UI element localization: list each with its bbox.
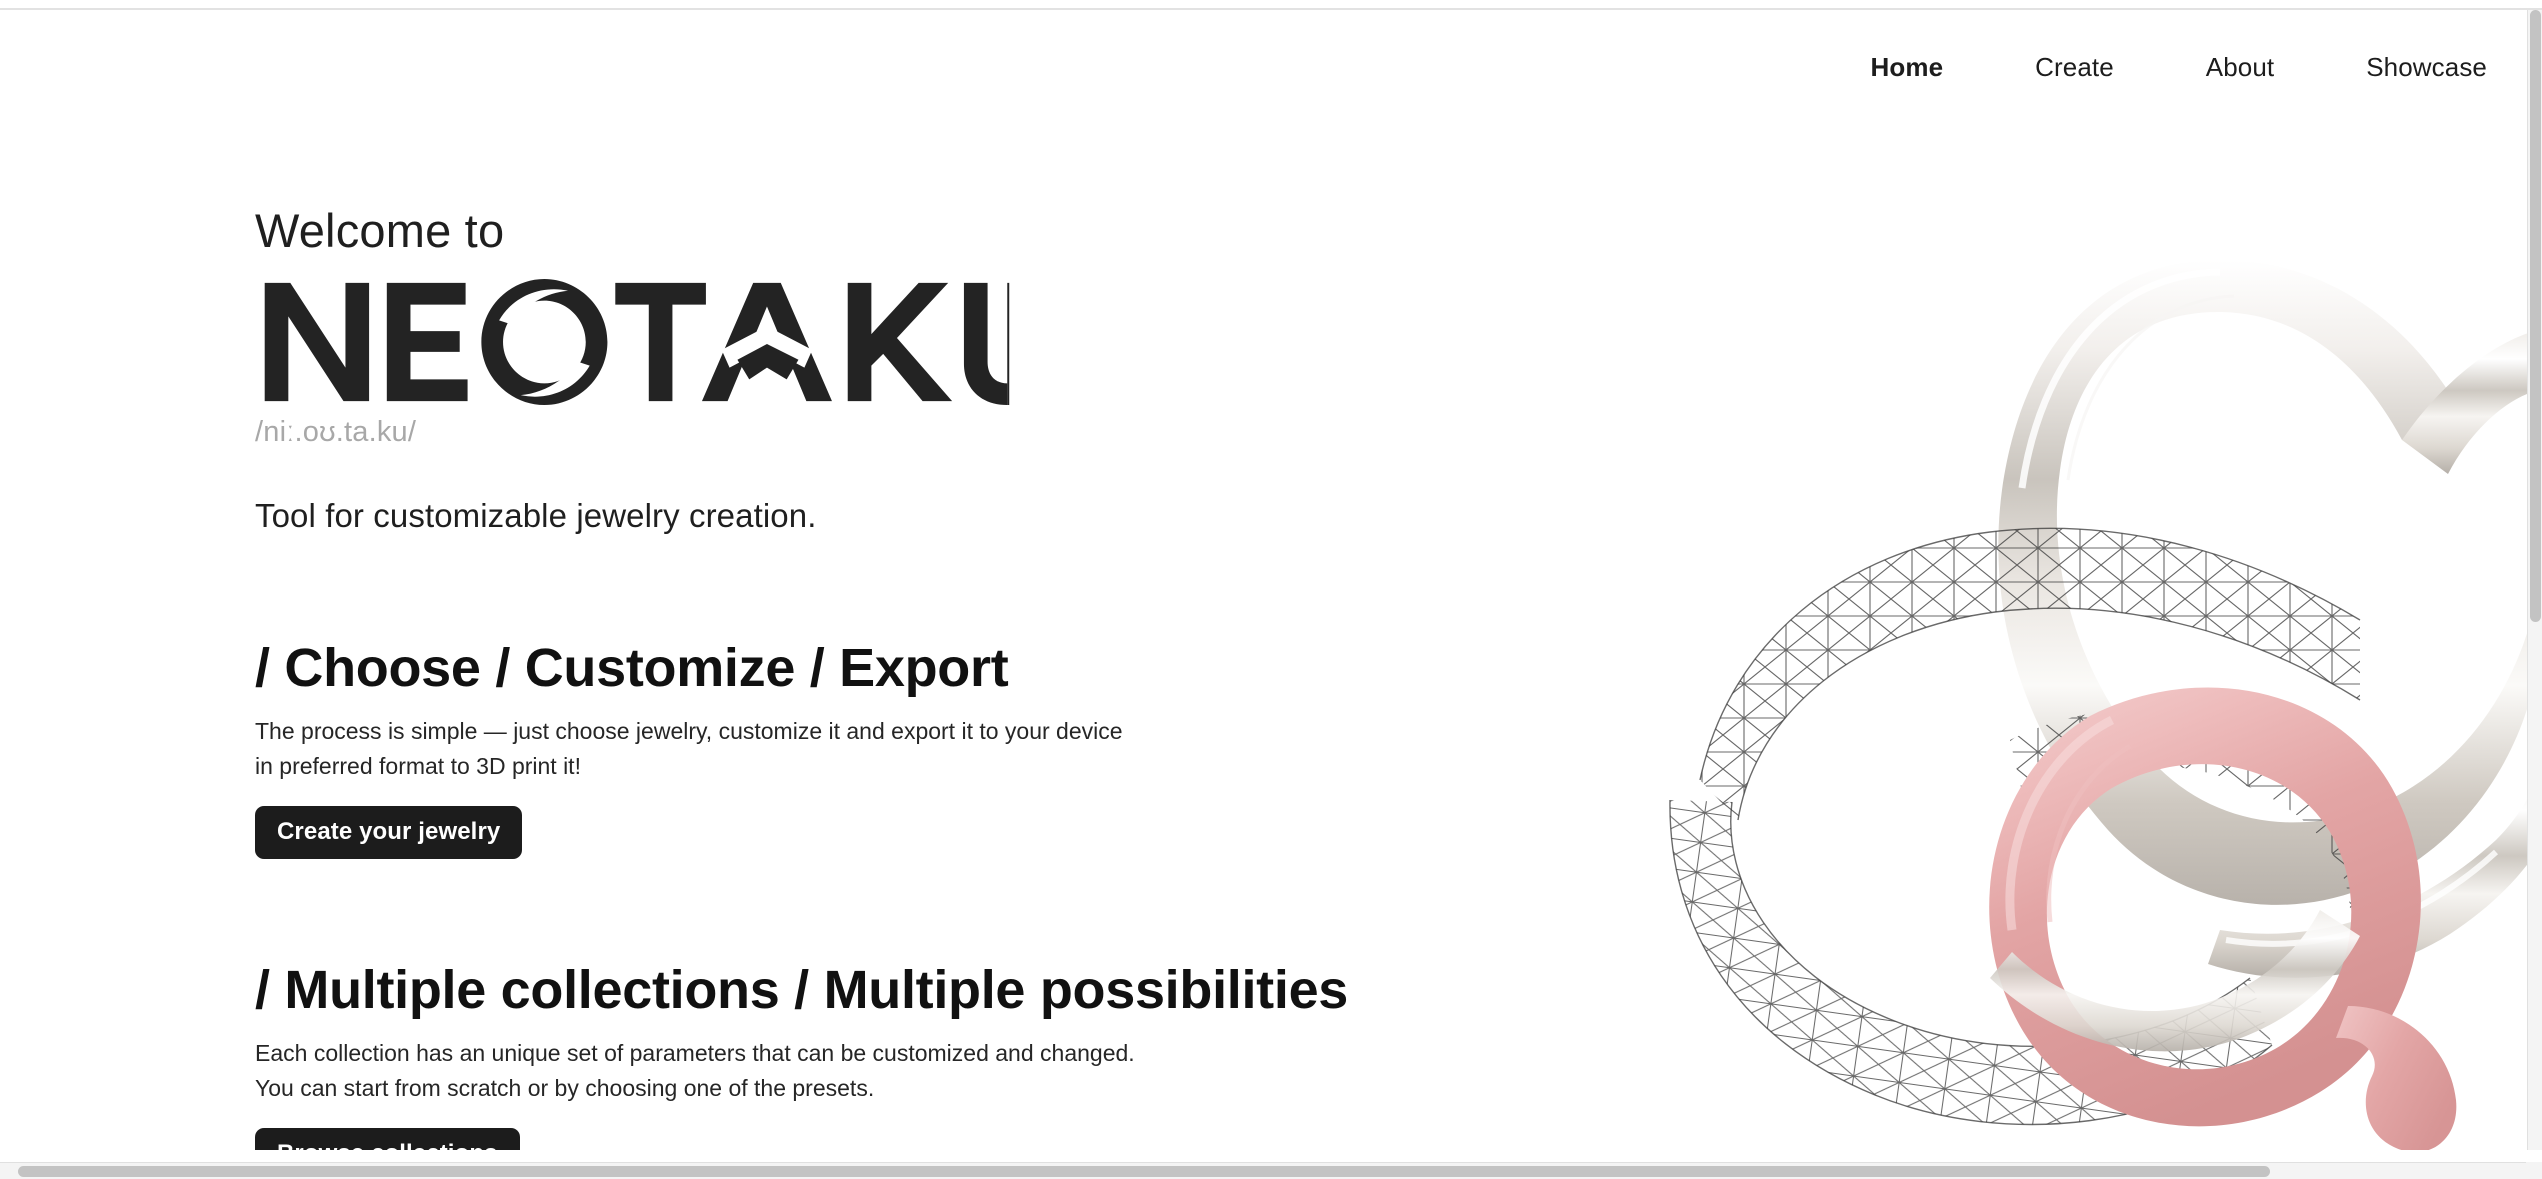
brand-tagline: Tool for customizable jewelry creation. <box>255 497 1355 535</box>
feature-section-process: / Choose / Customize / Export The proces… <box>255 639 1355 859</box>
vertical-scrollbar[interactable] <box>2527 10 2542 1150</box>
page-root: Home Create About Showcase <box>0 0 2542 1179</box>
section-body-collections: Each collection has an unique set of par… <box>255 1036 1355 1106</box>
nav-item-showcase[interactable]: Showcase <box>2320 54 2499 80</box>
nav-item-about[interactable]: About <box>2160 54 2320 80</box>
section-body-process: The process is simple — just choose jewe… <box>255 714 1355 784</box>
main-navigation: Home Create About Showcase <box>1825 54 2500 80</box>
silver-ribbon-lower <box>1990 910 2360 1051</box>
silver-ribbon-upper <box>1998 260 2527 905</box>
section-body-line: in preferred format to 3D print it! <box>255 749 1355 784</box>
section-heading-collections: / Multiple collections / Multiple possib… <box>255 961 1355 1019</box>
section-body-line: You can start from scratch or by choosin… <box>255 1071 1355 1106</box>
create-your-jewelry-button[interactable]: Create your jewelry <box>255 806 522 859</box>
hero-jewelry-artwork <box>1660 140 2527 1150</box>
wireframe-mesh-band <box>1660 470 2527 1150</box>
section-body-line: The process is simple — just choose jewe… <box>255 714 1355 749</box>
vertical-scrollbar-thumb[interactable] <box>2530 10 2541 622</box>
hero-content-column: Welcome to <box>255 10 1355 1150</box>
horizontal-scrollbar-thumb[interactable] <box>18 1166 2270 1177</box>
welcome-text: Welcome to <box>255 205 1355 257</box>
section-body-line: Each collection has an unique set of par… <box>255 1036 1355 1071</box>
pink-torus-ring <box>1989 688 2456 1150</box>
brand-phonetic: /niː.oʊ.ta.ku/ <box>255 417 1355 449</box>
nav-item-home[interactable]: Home <box>1825 54 1990 80</box>
page-viewport: Home Create About Showcase <box>0 10 2527 1150</box>
silver-ribbon-right <box>2208 330 2527 978</box>
section-heading-process: / Choose / Customize / Export <box>255 639 1355 697</box>
horizontal-scrollbar[interactable] <box>0 1162 2542 1179</box>
neotaku-logo <box>255 277 1015 407</box>
feature-section-collections: / Multiple collections / Multiple possib… <box>255 961 1355 1150</box>
scrollbar-corner <box>2526 1162 2542 1179</box>
nav-item-create[interactable]: Create <box>1989 54 2160 80</box>
browse-collections-button[interactable]: Browse collections <box>255 1128 520 1150</box>
